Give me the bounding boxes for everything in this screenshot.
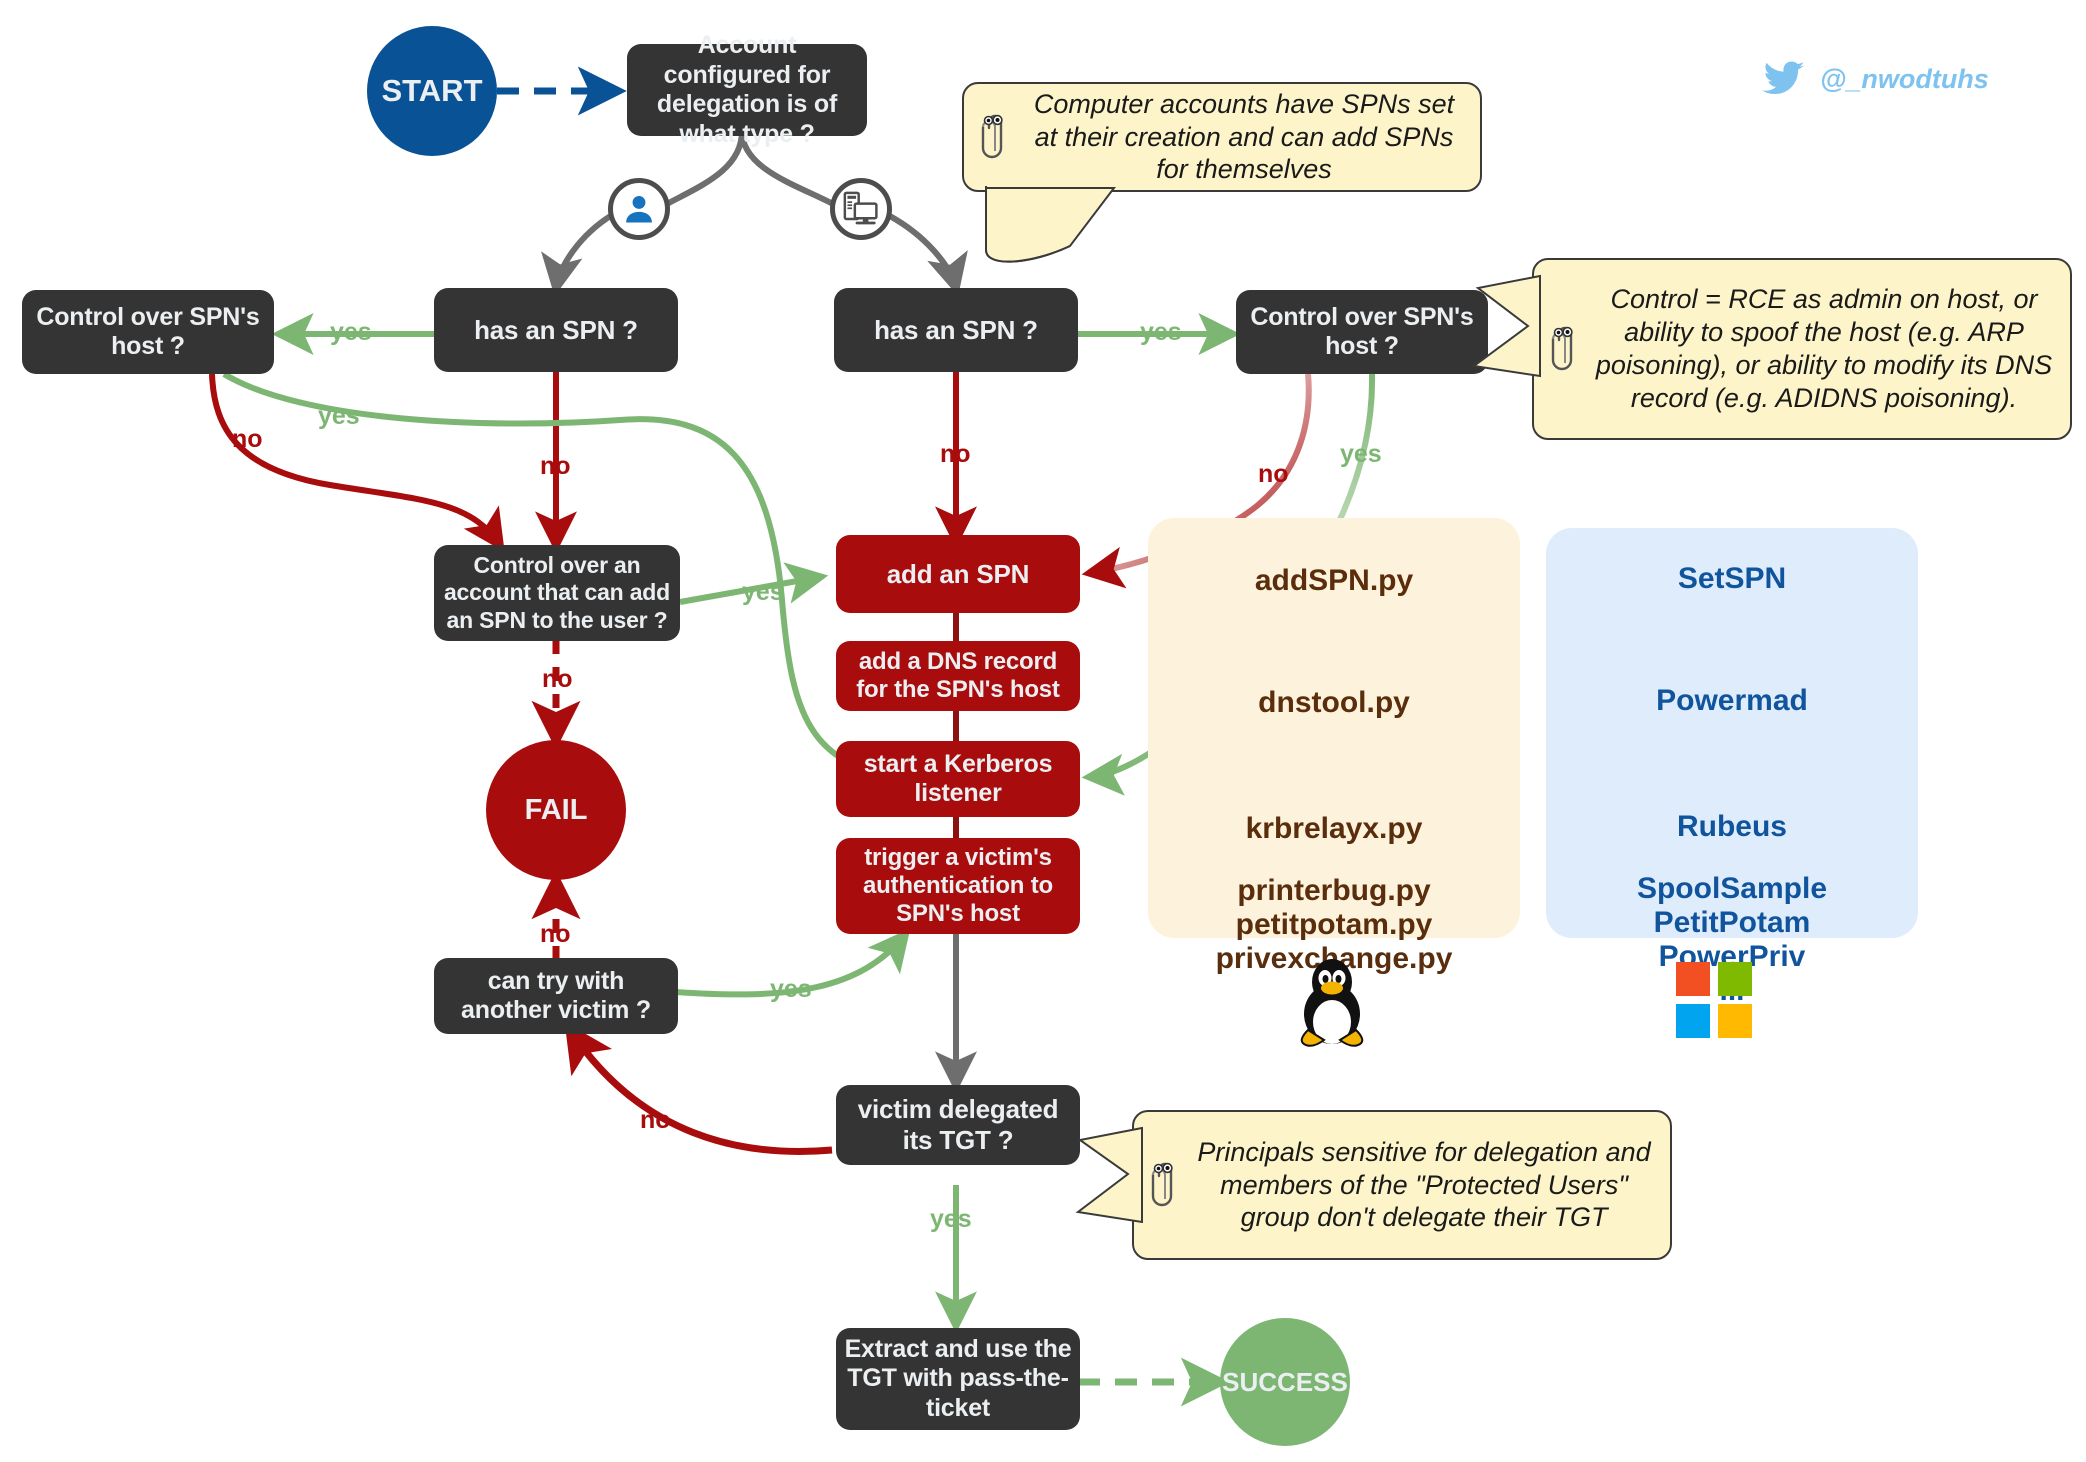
node-extract-use-tgt[interactable]: Extract and use the TGT with pass-the-ti…: [836, 1328, 1080, 1430]
edge-label-no-controlaccount: no: [542, 665, 573, 694]
computer-icon: [830, 178, 892, 240]
tool-petitpotam: PetitPotam: [1654, 906, 1811, 940]
tool-spoolsample: SpoolSample: [1637, 872, 1827, 906]
edge-label-yes-controlleft: yes: [318, 402, 360, 431]
paperclip-icon: [1142, 1159, 1188, 1211]
node-add-dns-record[interactable]: add a DNS record for the SPN's host: [836, 641, 1080, 711]
callout-computer-spn-tail: [962, 186, 1182, 296]
callout-protected-users: Principals sensitive for delegation and …: [1132, 1110, 1672, 1260]
credit-handle[interactable]: @_nwodtuhs: [1762, 60, 1989, 98]
node-account-type[interactable]: Account configured for delegation is of …: [627, 44, 867, 136]
edge-label-no-hasspncomputer: no: [940, 440, 971, 469]
tool-petitpotam-py: petitpotam.py: [1236, 908, 1433, 942]
start-terminal[interactable]: START: [367, 26, 497, 156]
edge-label-no-anothervictim: no: [540, 920, 571, 949]
callout-control-definition-text: Control = RCE as admin on host, or abili…: [1588, 283, 2054, 415]
edge-label-yes-hasspncomputer: yes: [1140, 318, 1182, 347]
edge-label-yes-controlaccount: yes: [742, 578, 784, 607]
edge-controlleft-no-controlaccount: [212, 374, 500, 545]
node-trigger-victim-auth[interactable]: trigger a victim's authentication to SPN…: [836, 838, 1080, 934]
node-control-host-left[interactable]: Control over SPN's host ?: [22, 290, 274, 374]
edge-label-no-delegatedtgt: no: [640, 1106, 671, 1135]
tool-rubeus: Rubeus: [1677, 810, 1787, 844]
paperclip-icon: [972, 111, 1018, 163]
credit-handle-text: @_nwodtuhs: [1820, 64, 1989, 95]
tool-setspn: SetSPN: [1678, 562, 1786, 596]
node-victim-delegated-tgt[interactable]: victim delegated its TGT ?: [836, 1085, 1080, 1165]
node-start-kerberos-listener[interactable]: start a Kerberos listener: [836, 741, 1080, 817]
edge-delegatedtgt-no-anothervictim: [570, 1030, 832, 1151]
callout-control-definition: Control = RCE as admin on host, or abili…: [1532, 258, 2072, 440]
user-icon: [608, 178, 670, 240]
twitter-icon: [1762, 60, 1806, 98]
paperclip-icon: [1542, 323, 1588, 375]
edge-label-yes-anothervictim: yes: [770, 975, 812, 1004]
success-terminal[interactable]: SUCCESS: [1220, 1318, 1350, 1446]
edge-label-no-hasspnuser: no: [540, 452, 571, 481]
windows-logo-icon: [1676, 962, 1752, 1038]
tool-krbrelayx: krbrelayx.py: [1246, 812, 1423, 846]
edge-label-yes-controlright: yes: [1340, 440, 1382, 469]
edge-label-no-controlleft: no: [232, 425, 263, 454]
node-has-spn-user[interactable]: has an SPN ?: [434, 288, 678, 372]
tool-addspn: addSPN.py: [1255, 564, 1413, 598]
node-control-host-right[interactable]: Control over SPN's host ?: [1236, 290, 1488, 374]
tool-printerbug: printerbug.py: [1237, 874, 1430, 908]
callout-protected-users-tail: [1072, 1122, 1148, 1232]
callout-protected-users-text: Principals sensitive for delegation and …: [1188, 1136, 1654, 1235]
edge-label-no-controlright: no: [1258, 460, 1289, 489]
node-can-try-another-victim[interactable]: can try with another victim ?: [434, 958, 678, 1034]
windows-tools-panel: SetSPN Powermad Rubeus SpoolSample Petit…: [1546, 528, 1918, 938]
tool-dnstool: dnstool.py: [1258, 686, 1410, 720]
callout-computer-spn-text: Computer accounts have SPNs set at their…: [1018, 88, 1464, 187]
edge-label-yes-hasspnuser: yes: [330, 318, 372, 347]
linux-penguin-icon: [1290, 952, 1374, 1048]
node-has-spn-computer[interactable]: has an SPN ?: [834, 288, 1078, 372]
node-control-account-add-spn[interactable]: Control over an account that can add an …: [434, 545, 680, 641]
edge-label-yes-delegatedtgt: yes: [930, 1205, 972, 1234]
fail-terminal[interactable]: FAIL: [486, 740, 626, 880]
callout-control-definition-tail: [1468, 268, 1548, 388]
flowchart-canvas: yes yes no no yes no no yes yes no no ye…: [0, 0, 2086, 1462]
tool-powermad: Powermad: [1656, 684, 1808, 718]
callout-computer-spn: Computer accounts have SPNs set at their…: [962, 82, 1482, 192]
linux-tools-panel: addSPN.py dnstool.py krbrelayx.py printe…: [1148, 518, 1520, 938]
node-add-spn[interactable]: add an SPN: [836, 535, 1080, 613]
